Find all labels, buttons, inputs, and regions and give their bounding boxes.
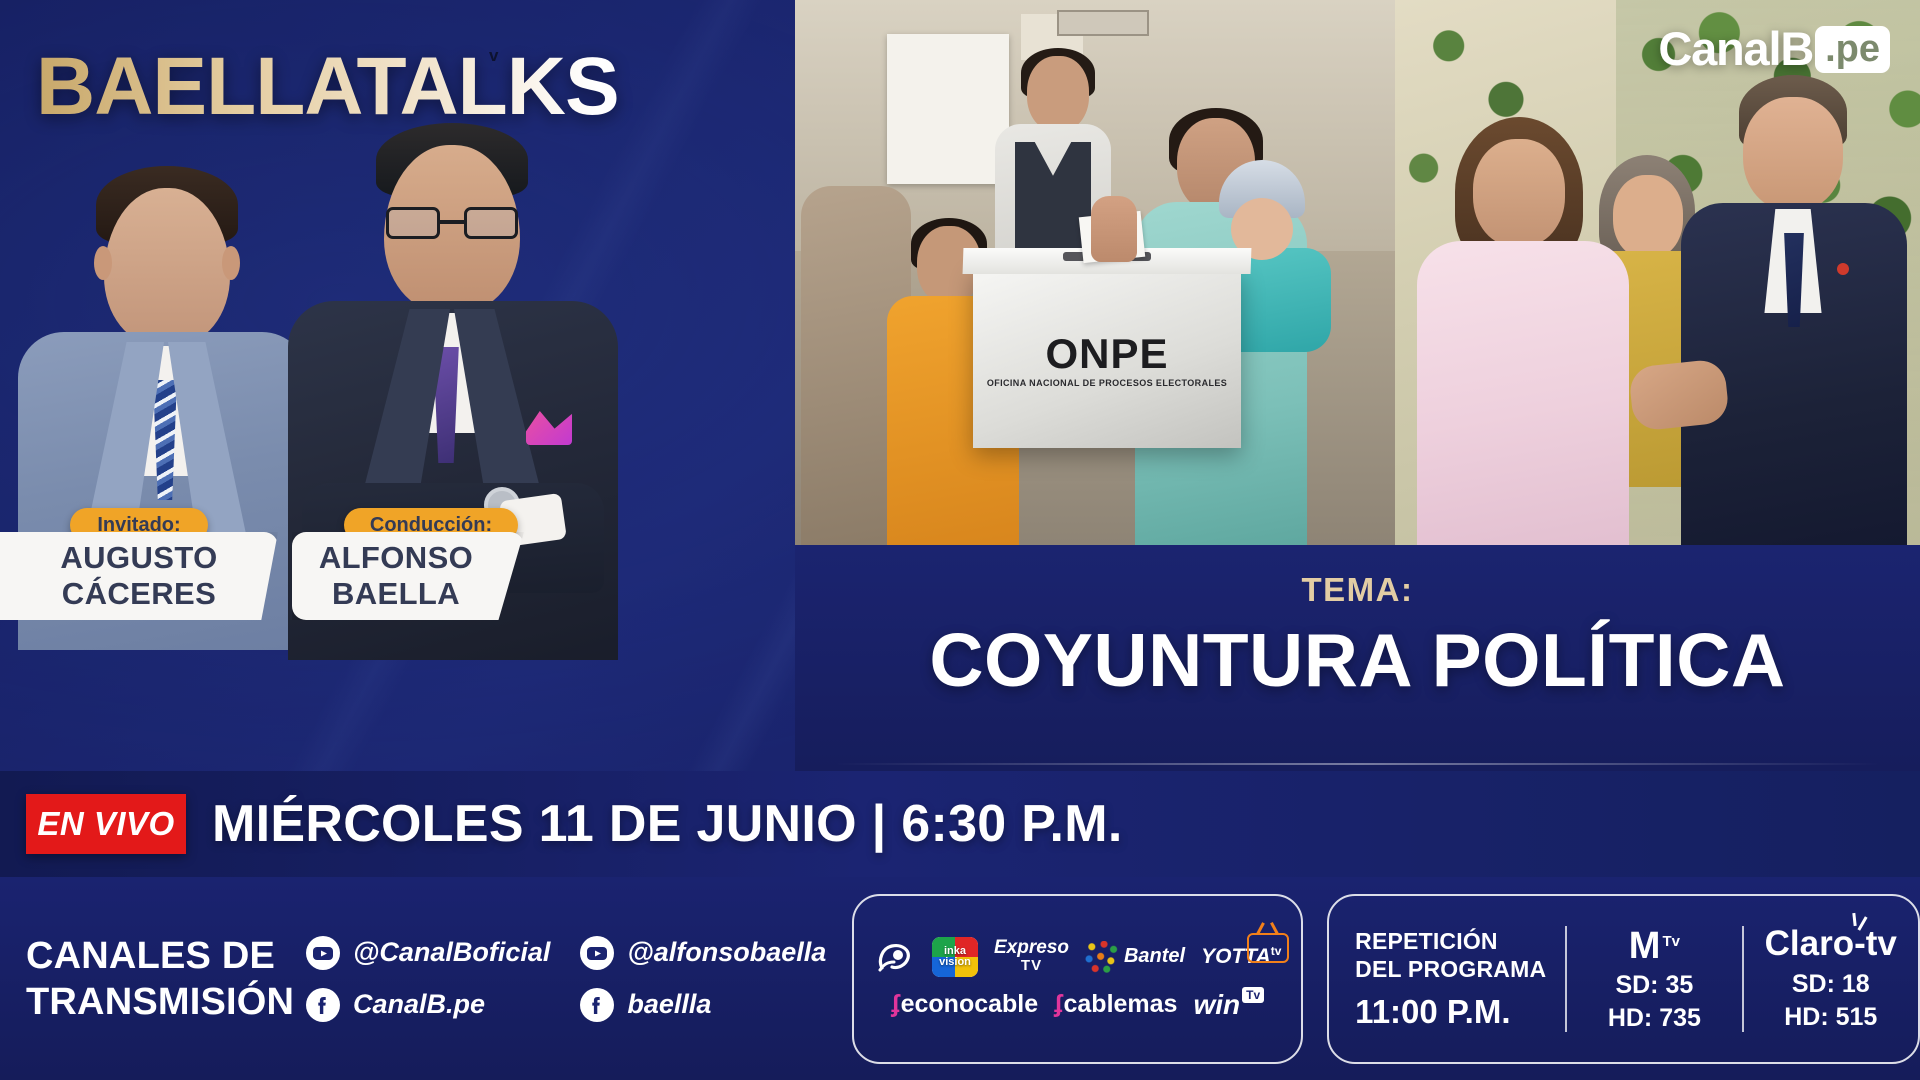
topic-title: COYUNTURA POLÍTICA bbox=[795, 617, 1920, 703]
social-handle: @CanalBoficial bbox=[353, 937, 550, 968]
claro-logo: Claro-tv bbox=[1765, 925, 1897, 963]
photo-strip: ONPE OFICINA NACIONAL DE PROCESOS ELECTO… bbox=[795, 0, 1920, 545]
expreso-logo-bottom: TV bbox=[1021, 957, 1042, 974]
claro-hd-channel: HD: 515 bbox=[1784, 1003, 1877, 1032]
movistar-logo-mark: M bbox=[1629, 928, 1661, 964]
canalb-logo: CanalB .pe bbox=[1658, 24, 1890, 74]
bantel-dots-icon bbox=[1085, 941, 1119, 973]
onpe-logo-text: ONPE bbox=[973, 330, 1241, 378]
topic-label: TEMA: bbox=[795, 571, 1920, 609]
host-name-line2: BAELLA bbox=[292, 576, 500, 612]
live-badge-label: EN VIVO bbox=[37, 805, 174, 843]
topic-block: TEMA: COYUNTURA POLÍTICA bbox=[795, 545, 1920, 771]
repeat-label-line2: DEL PROGRAMA bbox=[1355, 955, 1565, 983]
repeat-label-line1: REPETICIÓN bbox=[1355, 927, 1565, 955]
handshake bbox=[1628, 358, 1730, 432]
yotta-tv-logo: YOTTAtv bbox=[1201, 944, 1281, 969]
official-man bbox=[1681, 75, 1907, 545]
econocable-logo-text: econocable bbox=[901, 990, 1039, 1019]
onpe-logo-subtitle: OFICINA NACIONAL DE PROCESOS ELECTORALES bbox=[973, 378, 1241, 388]
social-handle: @alfonsobaella bbox=[627, 937, 826, 968]
claro-sd-channel: SD: 18 bbox=[1792, 970, 1870, 999]
live-badge: EN VIVO bbox=[26, 794, 186, 854]
ear-left bbox=[94, 246, 112, 280]
lapel-pin bbox=[1837, 263, 1849, 275]
social-item[interactable]: baellla bbox=[580, 988, 826, 1022]
inka-logo-bottom: vision bbox=[939, 957, 971, 968]
face bbox=[1473, 139, 1565, 247]
title-accent-mark: v bbox=[489, 46, 498, 66]
host-name-line1: ALFONSO bbox=[292, 540, 500, 576]
movistar-logo: MTv bbox=[1629, 924, 1680, 964]
canalb-logo-tld: .pe bbox=[1815, 26, 1890, 73]
guest-name-card: AUGUSTO CÁCERES bbox=[0, 532, 278, 620]
guest-name-line1: AUGUSTO bbox=[0, 540, 278, 576]
bantel-logo: Bantel bbox=[1085, 941, 1185, 973]
operator-movistar: MTv SD: 35 HD: 735 bbox=[1567, 924, 1741, 1033]
face bbox=[104, 188, 230, 346]
tv-frame-icon bbox=[1247, 933, 1289, 963]
inka-vision-logo: inka vision bbox=[932, 937, 978, 977]
wall-poster bbox=[887, 34, 1009, 184]
voting-hand bbox=[1091, 196, 1137, 262]
social-handle: baellla bbox=[627, 989, 711, 1020]
ear-right bbox=[222, 246, 240, 280]
tv-peru-icon bbox=[874, 940, 916, 974]
cablemas-mark-icon: ʄ bbox=[1054, 990, 1062, 1019]
social-handle: CanalB.pe bbox=[353, 989, 485, 1020]
photo-voting-scene: ONPE OFICINA NACIONAL DE PROCESOS ELECTO… bbox=[795, 0, 1395, 545]
repeat-label-group: REPETICIÓN DEL PROGRAMA 11:00 P.M. bbox=[1329, 927, 1565, 1031]
operator-claro: Claro-tv SD: 18 HD: 515 bbox=[1744, 925, 1918, 1032]
claro-logo-text: Claro-tv bbox=[1765, 924, 1897, 963]
win-logo-text: win bbox=[1193, 989, 1240, 1021]
channels-label-line1: CANALES DE bbox=[26, 933, 294, 979]
movistar-logo-sub: Tv bbox=[1662, 924, 1680, 960]
channels-label: CANALES DE TRANSMISIÓN bbox=[26, 933, 294, 1025]
promo-graphic: BAELLATALKS v Invitado bbox=[0, 0, 1920, 1080]
live-datetime: MIÉRCOLES 11 DE JUNIO | 6:30 P.M. bbox=[212, 794, 1123, 854]
live-bar: EN VIVO MIÉRCOLES 11 DE JUNIO | 6:30 P.M… bbox=[0, 771, 1920, 877]
social-item[interactable]: @alfonsobaella bbox=[580, 936, 826, 970]
outfit bbox=[1417, 241, 1629, 545]
left-panel: BAELLATALKS v Invitado bbox=[0, 0, 790, 770]
movistar-sd-channel: SD: 35 bbox=[1615, 971, 1693, 1000]
cablemas-logo-text: cablemas bbox=[1063, 990, 1177, 1019]
youtube-icon bbox=[306, 936, 340, 970]
partner-logos-box: inka vision Expreso TV Bantel YOTTAt bbox=[852, 894, 1303, 1064]
photo-meeting-scene bbox=[1395, 0, 1920, 545]
official-woman bbox=[1417, 115, 1629, 545]
claro-tick-2 bbox=[1852, 913, 1856, 926]
repeat-time: 11:00 P.M. bbox=[1355, 993, 1565, 1031]
expreso-logo-top: Expreso bbox=[994, 939, 1069, 956]
expreso-tv-logo: Expreso TV bbox=[994, 939, 1069, 974]
win-tv-logo: win Tv bbox=[1193, 989, 1264, 1021]
guest-name: AUGUSTO CÁCERES bbox=[0, 540, 278, 612]
econocable-logo: ʄ econocable bbox=[891, 990, 1038, 1019]
canalb-logo-word: CanalB bbox=[1658, 24, 1813, 74]
social-column-canalb: @CanalBoficial CanalB.pe bbox=[306, 936, 550, 1022]
wall-sign bbox=[1057, 10, 1149, 36]
cablemas-logo: ʄ cablemas bbox=[1054, 990, 1177, 1019]
face bbox=[1743, 97, 1843, 211]
social-handles: @CanalBoficial CanalB.pe bbox=[306, 936, 826, 1022]
inka-logo-top: inka bbox=[944, 946, 966, 957]
win-tv-badge: Tv bbox=[1242, 987, 1264, 1003]
guest-name-line2: CÁCERES bbox=[0, 576, 278, 612]
bantel-logo-text: Bantel bbox=[1124, 945, 1185, 968]
divider bbox=[835, 763, 1880, 765]
facebook-icon bbox=[306, 988, 340, 1022]
social-item[interactable]: @CanalBoficial bbox=[306, 936, 550, 970]
youtube-icon bbox=[580, 936, 614, 970]
repeat-info-box: REPETICIÓN DEL PROGRAMA 11:00 P.M. MTv S… bbox=[1327, 894, 1920, 1064]
social-column-baella: @alfonsobaella baellla bbox=[580, 936, 826, 1022]
host-name-card: ALFONSO BAELLA bbox=[292, 532, 524, 620]
footer: CANALES DE TRANSMISIÓN @CanalBoficial bbox=[0, 877, 1920, 1080]
partner-row-2: ʄ econocable ʄ cablemas win Tv bbox=[868, 989, 1287, 1021]
partner-row-1: inka vision Expreso TV Bantel YOTTAt bbox=[868, 937, 1287, 977]
facebook-icon bbox=[580, 988, 614, 1022]
econocable-mark-icon: ʄ bbox=[891, 990, 899, 1019]
channels-label-line2: TRANSMISIÓN bbox=[26, 979, 294, 1025]
host-name: ALFONSO BAELLA bbox=[292, 540, 500, 612]
eyeglasses-icon bbox=[384, 207, 520, 241]
movistar-hd-channel: HD: 735 bbox=[1608, 1004, 1701, 1033]
social-item[interactable]: CanalB.pe bbox=[306, 988, 550, 1022]
face bbox=[1027, 56, 1089, 132]
